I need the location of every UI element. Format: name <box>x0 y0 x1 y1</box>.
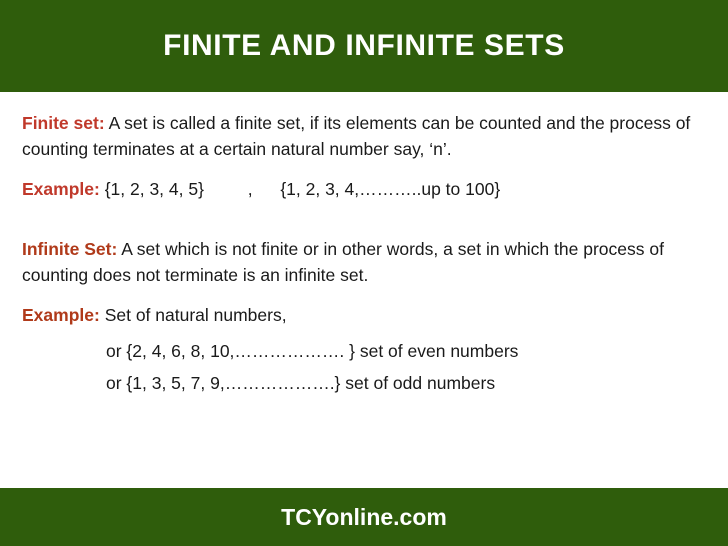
footer-bar: TCYonline.com <box>0 488 728 546</box>
finite-example-first: {1, 2, 3, 4, 5} <box>105 179 204 199</box>
finite-definition-paragraph: Finite set: A set is called a finite set… <box>22 110 706 162</box>
slide: FINITE AND INFINITE SETS Finite set: A s… <box>0 0 728 546</box>
even-numbers-line: or {2, 4, 6, 8, 10,………………. } set of even… <box>22 336 706 366</box>
infinite-example-label: Example: <box>22 305 100 325</box>
title-bar: FINITE AND INFINITE SETS <box>0 0 728 92</box>
section-spacer <box>22 210 706 236</box>
infinite-definition-paragraph: Infinite Set: A set which is not finite … <box>22 236 706 288</box>
finite-example-second: {1, 2, 3, 4,………..up to 100} <box>280 179 500 199</box>
page-title: FINITE AND INFINITE SETS <box>163 29 565 63</box>
slide-body: Finite set: A set is called a finite set… <box>0 92 728 488</box>
infinite-set-label: Infinite Set: <box>22 239 117 259</box>
finite-example-label: Example: <box>22 179 100 199</box>
infinite-example-paragraph: Example: Set of natural numbers, <box>22 302 706 328</box>
odd-numbers-line: or {1, 3, 5, 7, 9,……………….} set of odd nu… <box>22 368 706 398</box>
finite-example-separator: , <box>248 179 253 199</box>
footer-branding: TCYonline.com <box>281 504 447 531</box>
finite-example-paragraph: Example: {1, 2, 3, 4, 5} , {1, 2, 3, 4,…… <box>22 176 706 202</box>
finite-set-label: Finite set: <box>22 113 105 133</box>
infinite-example-text: Set of natural numbers, <box>105 305 287 325</box>
infinite-set-definition: A set which is not finite or in other wo… <box>22 239 664 285</box>
finite-set-definition: A set is called a finite set, if its ele… <box>22 113 690 159</box>
